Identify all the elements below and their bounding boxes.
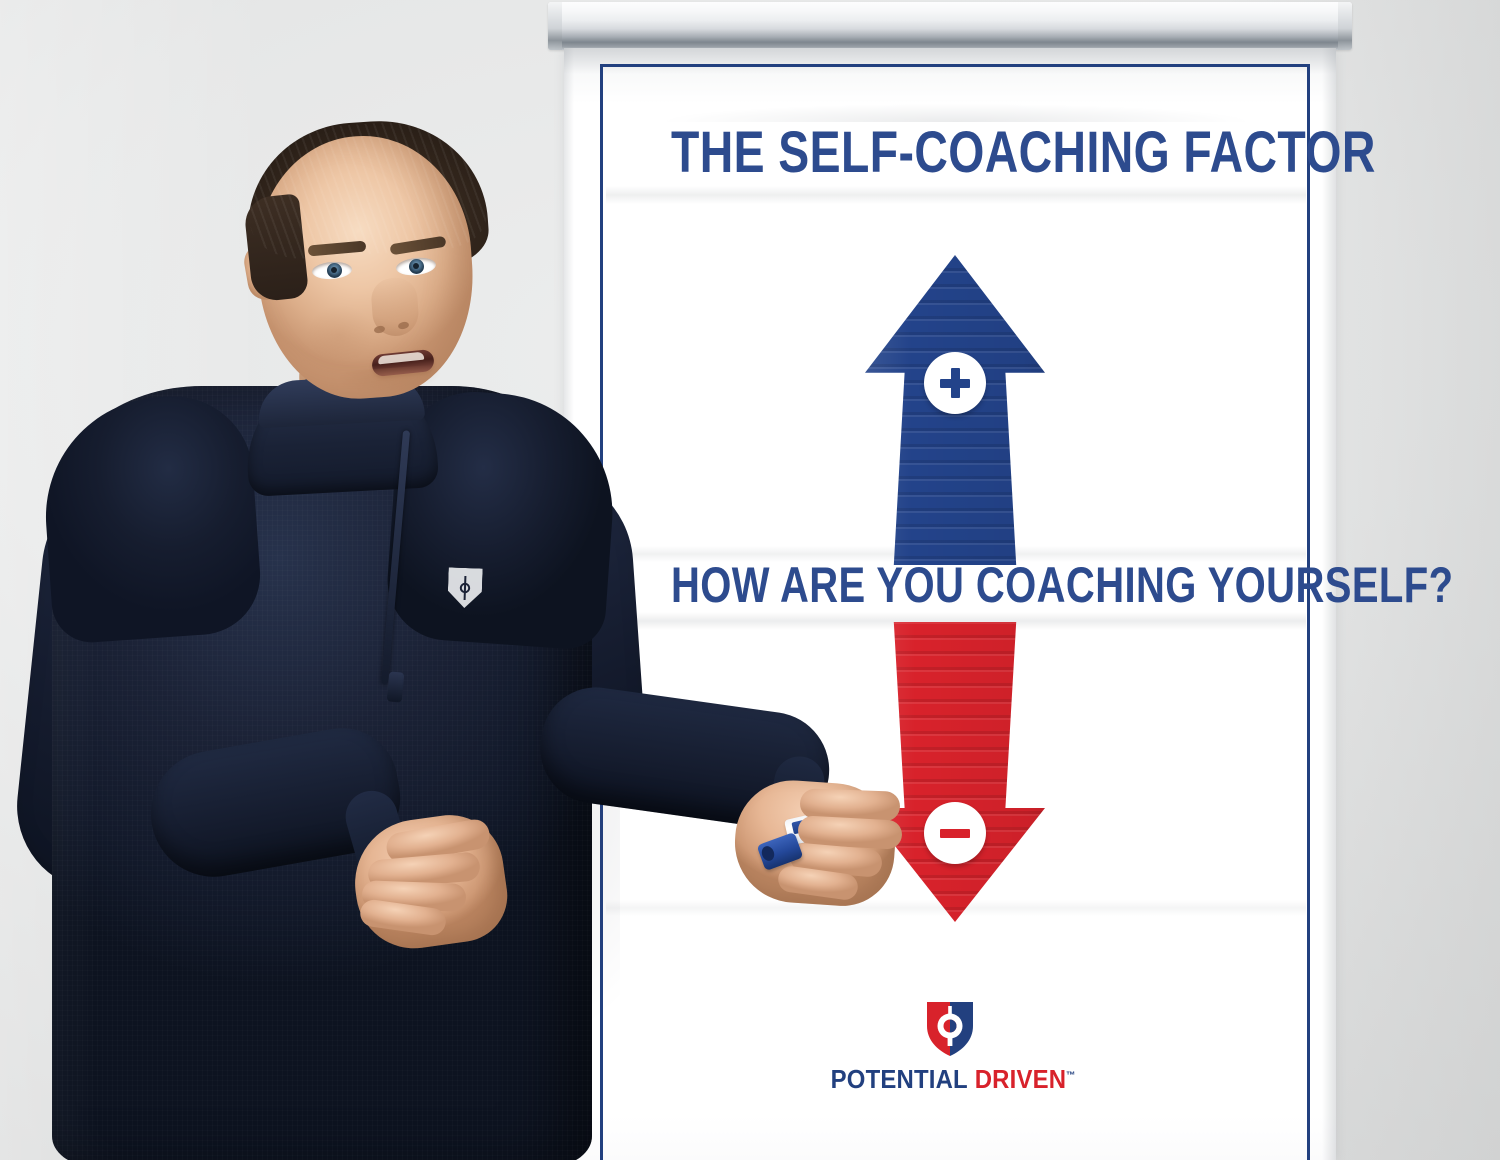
presenter-hair-texture <box>244 116 488 262</box>
brand-word-primary: POTENTIAL <box>831 1064 968 1094</box>
brand-logo: POTENTIAL DRIVEN™ <box>820 1000 1080 1095</box>
garment-zipper-pull <box>387 671 405 702</box>
potential-driven-shield-icon <box>923 1000 977 1058</box>
presenter-pupil-left <box>331 267 337 273</box>
presenter-pupil-right <box>413 263 419 269</box>
presenter-cheek-shading <box>298 297 383 372</box>
screenshot-stage: THE SELF-COACHING FACTOR <box>0 0 1500 1160</box>
presenter-left-shoulder <box>38 391 264 645</box>
presenter-chin-shading <box>329 364 451 412</box>
chest-shield-inner-icon <box>455 574 476 603</box>
presenter <box>0 0 760 1160</box>
brand-wordmark: POTENTIAL DRIVEN™ <box>831 1064 1076 1095</box>
brand-word-secondary: DRIVEN <box>975 1064 1066 1094</box>
roller-cap-right <box>1338 2 1352 50</box>
trademark-symbol: ™ <box>1066 1070 1075 1081</box>
